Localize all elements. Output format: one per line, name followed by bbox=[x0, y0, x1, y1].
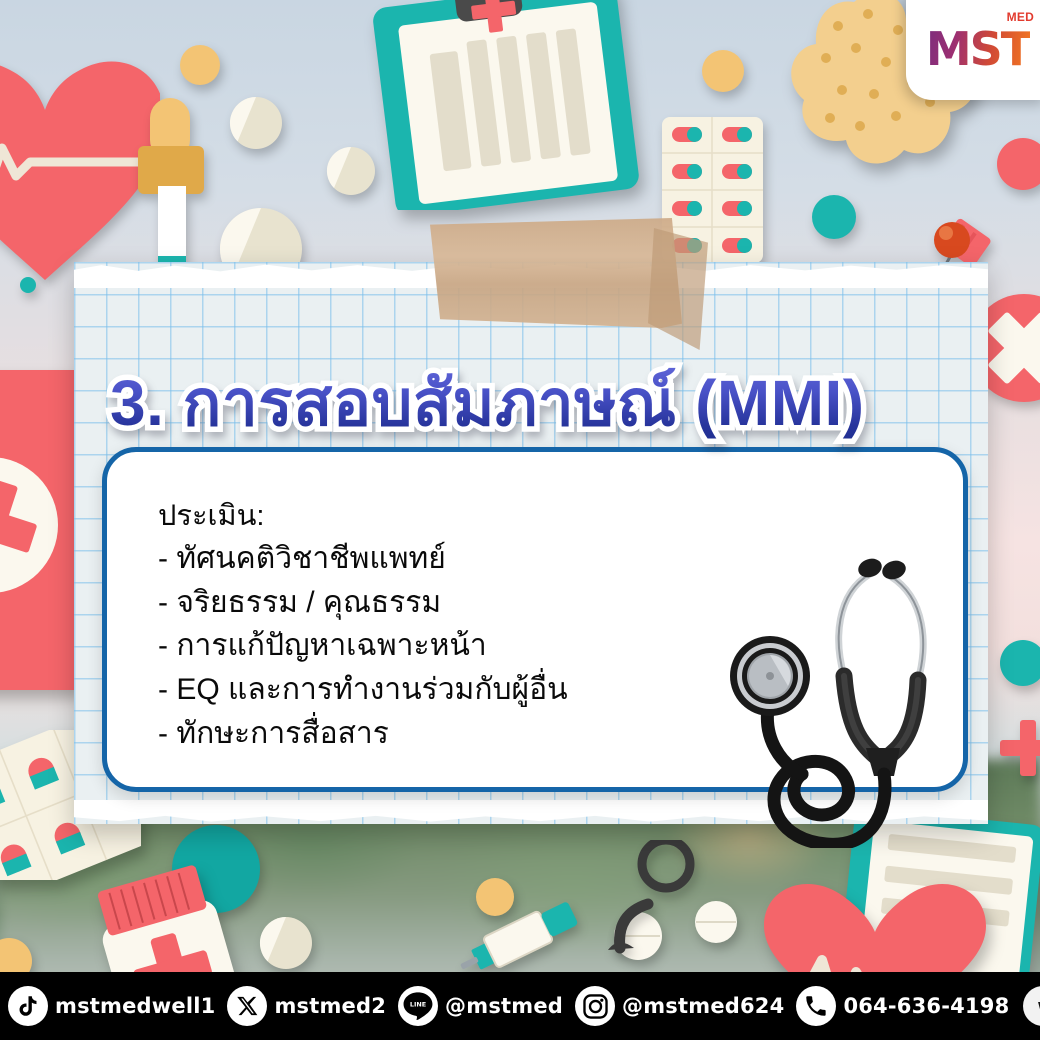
svg-text:LINE: LINE bbox=[410, 1001, 426, 1009]
social-item-x-twitter[interactable]: mstmed2 bbox=[227, 986, 386, 1026]
poster-canvas: 3. การสอบสัมภาษณ์ (MMI) 3. การสอบสัมภาษณ… bbox=[0, 0, 1040, 1040]
line-icon[interactable]: LINE bbox=[398, 986, 438, 1026]
social-item-tiktok[interactable]: mstmedwell1 bbox=[8, 986, 215, 1026]
list-item: - จริยธรรม / คุณธรรม bbox=[158, 583, 568, 623]
dot-yellow-2 bbox=[702, 50, 744, 92]
card-heading: ประเมิน: bbox=[158, 497, 568, 535]
dot-teal-3 bbox=[1000, 640, 1040, 686]
tablet-icon-2 bbox=[325, 145, 377, 197]
dot-red-1 bbox=[997, 138, 1040, 190]
instagram-icon[interactable] bbox=[575, 986, 615, 1026]
list-item: - ทัศนคติวิชาชีพแพทย์ bbox=[158, 539, 568, 579]
social-label-instagram: @mstmed624 bbox=[622, 994, 784, 1018]
phone-icon[interactable] bbox=[796, 986, 836, 1026]
tablet-icon-bottom-1 bbox=[258, 915, 314, 971]
tiktok-icon[interactable] bbox=[8, 986, 48, 1026]
social-footer-bar: mstmedwell1 mstmed2 LINE @mstmed bbox=[0, 972, 1040, 1040]
brand-logo-superscript: MED bbox=[1007, 10, 1035, 24]
website-pill[interactable]: www.mstmed624.com bbox=[1023, 986, 1040, 1026]
stethoscope-decor-icon-bottom bbox=[600, 840, 730, 960]
dot-teal-1 bbox=[812, 195, 856, 239]
list-item: - ทักษะการสื่อสาร bbox=[158, 714, 568, 754]
brand-logo: MST MED bbox=[926, 22, 1030, 76]
social-item-instagram[interactable]: @mstmed624 bbox=[575, 986, 784, 1026]
tablet-icon-1 bbox=[228, 95, 284, 151]
cross-red-icon-right-low bbox=[996, 716, 1040, 780]
stethoscope-icon bbox=[718, 548, 958, 848]
page-title: 3. การสอบสัมภาษณ์ (MMI) bbox=[110, 352, 865, 454]
social-label-x-twitter: mstmed2 bbox=[274, 994, 386, 1018]
dot-yellow-1 bbox=[180, 45, 220, 85]
social-label-phone: 064-636-4198 bbox=[843, 994, 1009, 1018]
social-label-tiktok: mstmedwell1 bbox=[55, 994, 215, 1018]
masking-tape bbox=[430, 218, 682, 328]
social-item-line[interactable]: LINE @mstmed bbox=[398, 986, 563, 1026]
clipboard-icon-top bbox=[345, 0, 655, 210]
brand-logo-badge: MST MED bbox=[906, 0, 1040, 100]
dot-teal-2 bbox=[20, 277, 36, 293]
card-text-block: ประเมิน: - ทัศนคติวิชาชีพแพทย์ - จริยธรร… bbox=[158, 497, 568, 753]
social-item-phone[interactable]: 064-636-4198 bbox=[796, 986, 1009, 1026]
brand-logo-text: MST bbox=[926, 22, 1030, 76]
list-item: - การแก้ปัญหาเฉพาะหน้า bbox=[158, 626, 568, 666]
social-label-line: @mstmed bbox=[445, 994, 563, 1018]
x-twitter-icon[interactable] bbox=[227, 986, 267, 1026]
list-item: - EQ และการทำงานร่วมกับผู้อื่น bbox=[158, 670, 568, 710]
